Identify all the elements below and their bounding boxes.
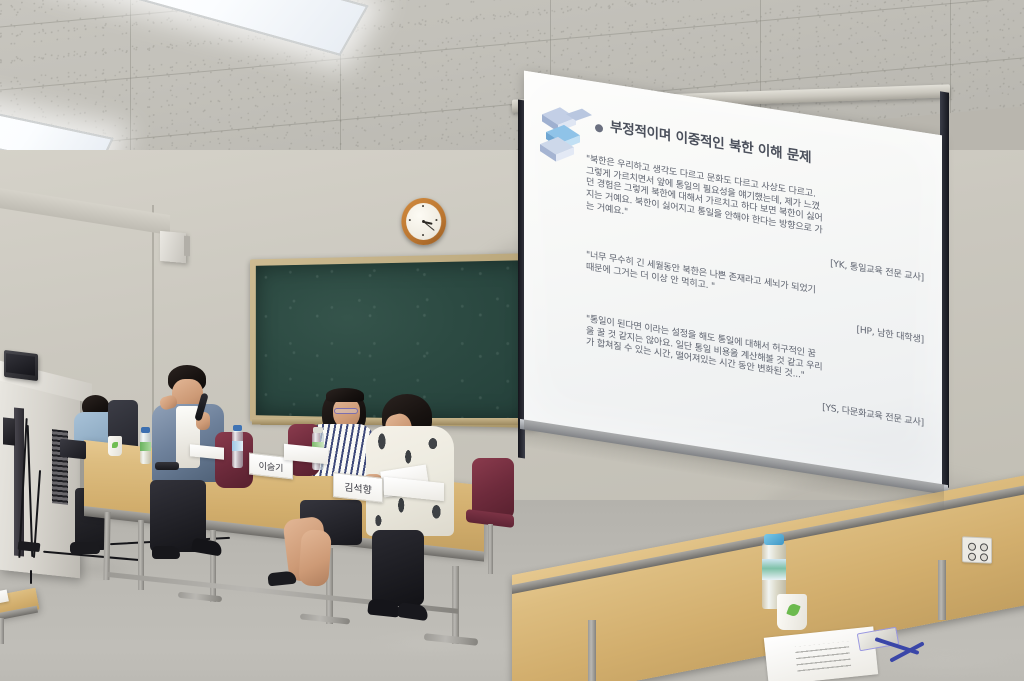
paper-cup-logo (112, 442, 118, 448)
wall-clock (401, 198, 446, 246)
bottle-cap (313, 427, 323, 433)
table-leg (103, 512, 110, 580)
panelist-3-trousers (372, 530, 424, 606)
presentation-slide: 부정적이며 이중적인 북한 이해 문제 "북한은 우리하고 생각도 다르고 문화… (524, 71, 942, 486)
bottle-cap (141, 427, 150, 433)
left-table-leg (0, 618, 4, 644)
bottle-label (232, 441, 243, 451)
foreground-bottle-cap (764, 534, 784, 545)
table-equipment (60, 439, 86, 460)
panelist-2-bangs (326, 388, 364, 402)
table-microphone-base (155, 462, 179, 470)
speaker-shoe (152, 546, 180, 559)
wall-speaker-bracket (184, 236, 190, 257)
podium-monitor-screen (6, 353, 35, 376)
wall-speaker (160, 231, 186, 263)
foreground-table-leg (588, 620, 596, 681)
outlet-socket (980, 543, 988, 551)
clock-face (406, 203, 441, 240)
outlet-socket (968, 543, 976, 551)
podium-control-box (3, 417, 15, 445)
bottle-cap (233, 425, 242, 431)
foreground-table-leg (938, 560, 946, 620)
table-leg (452, 566, 459, 644)
photo-scene: 부정적이며 이중적인 북한 이해 문제 "북한은 우리하고 생각도 다르고 문화… (0, 0, 1024, 681)
outlet-socket (980, 553, 988, 561)
slide-bullet-marker (595, 124, 603, 133)
bottle-label (140, 442, 151, 451)
eyeglasses (334, 408, 358, 414)
background-person-shoe (70, 542, 100, 554)
outlet-socket (968, 553, 976, 561)
ceiling-tile-seam (950, 0, 951, 113)
chair-leg (488, 524, 493, 574)
wall-power-outlet[interactable] (962, 536, 992, 564)
cable (30, 570, 32, 584)
panelist-2-legs (298, 529, 332, 587)
foreground-bottle-label (762, 559, 786, 580)
